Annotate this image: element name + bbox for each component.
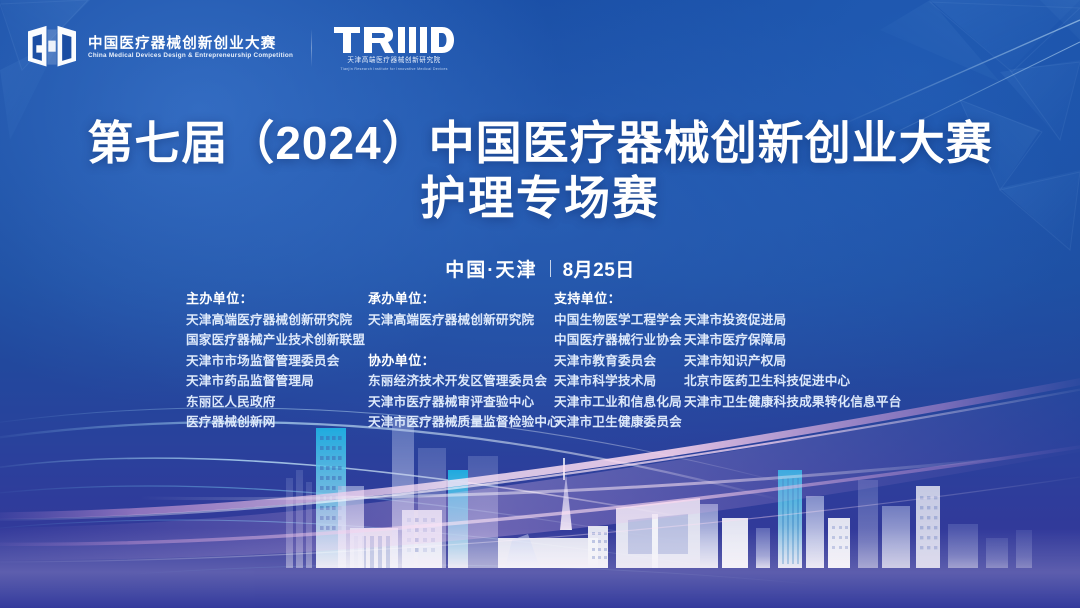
cmdc-logo-text: 中国医疗器械创新创业大赛 China Medical Devices Desig… <box>88 37 289 60</box>
coorganizer-item: 东丽经济技术开发区管理委员会 <box>368 371 554 392</box>
supporter-item: 中国生物医学工程学会 <box>554 310 684 331</box>
supporter-item: 天津市教育委员会 <box>554 351 684 372</box>
logo-divider <box>311 29 312 67</box>
host-item: 东丽区人民政府 <box>186 392 368 413</box>
event-location: 中国·天津 <box>445 255 537 282</box>
cmdc-logo-cn: 中国医疗器械创新创业大赛 <box>88 37 289 52</box>
organizer-item: 天津高端医疗器械创新研究院 <box>368 310 554 331</box>
coorganizer-item: 天津市医疗器械质量监督检验中心 <box>368 412 554 433</box>
host-item: 医疗器械创新网 <box>186 412 368 433</box>
poster-title: 第七届（2024）中国医疗器械创新创业大赛 护理专场赛 <box>0 116 1080 227</box>
coorganizer-heading: 协办单位： <box>368 351 554 372</box>
supporter-column-left: 支持单位： 中国生物医学工程学会 中国医疗器械行业协会 天津市教育委员会 天津市… <box>554 289 684 433</box>
supporter-item: 中国医疗器械行业协会 <box>554 330 684 351</box>
organizer-column: 承办单位： 天津高端医疗器械创新研究院 协办单位： 东丽经济技术开发区管理委员会… <box>368 289 554 433</box>
organizer-list: 主办单位： 天津高端医疗器械创新研究院 国家医疗器械产业技术创新联盟 天津市市场… <box>186 289 904 433</box>
supporter-item: 天津市知识产权局 <box>684 351 904 372</box>
supporter-item: 天津市工业和信息化局 <box>554 392 684 413</box>
supporter-column-right: 天津市投资促进局 天津市医疗保障局 天津市知识产权局 北京市医药卫生科技促进中心… <box>684 289 904 412</box>
cmdc-logo[interactable]: 中国医疗器械创新创业大赛 China Medical Devices Desig… <box>26 24 289 72</box>
header-logos: 中国医疗器械创新创业大赛 China Medical Devices Desig… <box>26 24 454 72</box>
event-poster: 中国医疗器械创新创业大赛 China Medical Devices Desig… <box>0 0 1080 608</box>
supporter-item: 天津市医疗保障局 <box>684 330 904 351</box>
host-item: 国家医疗器械产业技术创新联盟 <box>186 330 368 351</box>
date-separator <box>550 260 551 277</box>
host-item: 天津高端医疗器械创新研究院 <box>186 310 368 331</box>
triid-logo-cn: 天津高端医疗器械创新研究院 <box>347 58 441 65</box>
supporter-heading: 支持单位： <box>554 289 684 310</box>
host-item: 天津市药品监督管理局 <box>186 371 368 392</box>
triid-logo[interactable]: 天津高端医疗器械创新研究院 Tianjin Research Institute… <box>334 25 454 71</box>
host-item: 天津市市场监督管理委员会 <box>186 351 368 372</box>
organizer-heading: 承办单位： <box>368 289 554 310</box>
title-line-1: 第七届（2024）中国医疗器械创新创业大赛 <box>0 116 1080 170</box>
supporter-item: 天津市投资促进局 <box>684 310 904 331</box>
supporter-item: 天津市卫生健康科技成果转化信息平台 <box>684 392 904 413</box>
supporter-item: 北京市医药卫生科技促进中心 <box>684 371 904 392</box>
triid-wordmark-icon <box>334 25 454 55</box>
date-location-line: 中国·天津 8月25日 <box>0 255 1080 282</box>
cmdc-logo-en: China Medical Devices Design & Entrepren… <box>88 53 293 59</box>
triid-logo-en: Tianjin Research Institute for Innovativ… <box>340 68 447 72</box>
open-book-door-mark-icon <box>26 24 78 72</box>
supporter-item: 天津市卫生健康委员会 <box>554 412 684 433</box>
event-date: 8月25日 <box>563 255 635 282</box>
coorganizer-item: 天津市医疗器械审评查验中心 <box>368 392 554 413</box>
title-line-2: 护理专场赛 <box>0 170 1080 227</box>
column-spacer <box>684 289 904 310</box>
host-heading: 主办单位： <box>186 289 368 310</box>
supporter-item: 天津市科学技术局 <box>554 371 684 392</box>
host-column: 主办单位： 天津高端医疗器械创新研究院 国家医疗器械产业技术创新联盟 天津市市场… <box>186 289 368 433</box>
column-spacer <box>368 330 554 351</box>
